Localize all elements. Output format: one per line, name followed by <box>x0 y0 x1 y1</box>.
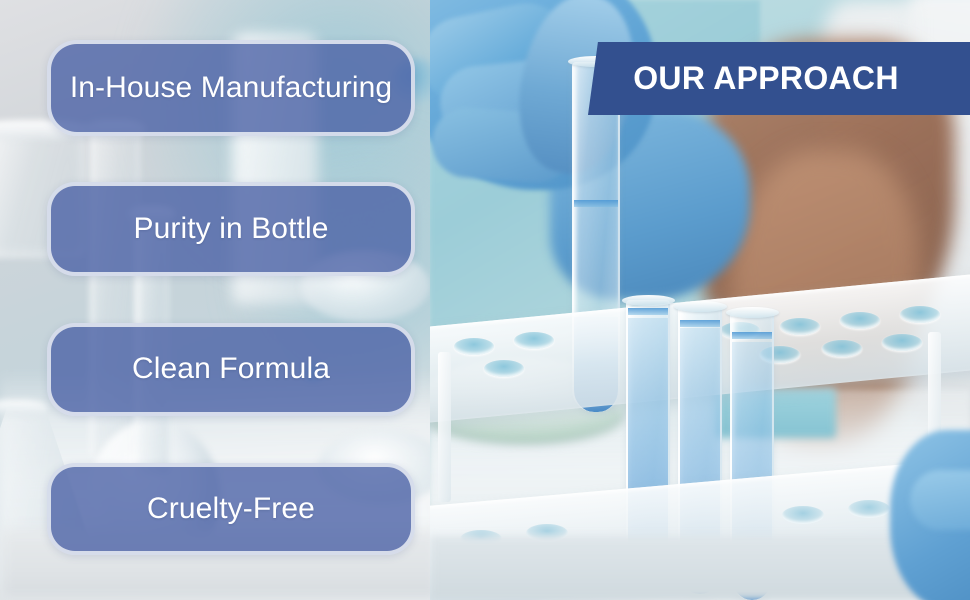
test-tube-liquid-surface <box>628 308 668 315</box>
bench-front-edge <box>430 536 970 600</box>
test-tube-rack-3-rim <box>726 307 779 318</box>
rack-hole <box>900 306 940 323</box>
feature-pill-clean-formula[interactable]: Clean Formula <box>47 323 415 416</box>
test-tube-rack-1-rim <box>622 295 675 306</box>
feature-pill-in-house-manufacturing[interactable]: In-House Manufacturing <box>47 40 415 136</box>
test-tube-liquid-surface <box>574 200 618 207</box>
rack-hole <box>822 340 862 357</box>
rack-hole <box>484 360 524 377</box>
rack-hole <box>780 318 820 335</box>
rack-bottom-hole <box>848 500 890 518</box>
rack-hole <box>882 334 922 351</box>
test-tube-rack-2-rim <box>674 301 727 312</box>
erlenmeyer-flask-rim <box>0 400 48 416</box>
rack-hole <box>514 332 554 349</box>
rack-leg-left <box>438 352 451 502</box>
feature-pill-cruelty-free[interactable]: Cruelty-Free <box>47 463 415 555</box>
our-approach-banner: OUR APPROACH <box>588 42 970 115</box>
rack-hole <box>840 312 880 329</box>
gloved-hand-secondary-fingers <box>910 470 970 530</box>
feature-pill-purity-in-bottle[interactable]: Purity in Bottle <box>47 182 415 276</box>
test-tube-liquid-surface <box>732 332 772 339</box>
banner-title: OUR APPROACH <box>625 60 933 97</box>
rack-bottom-hole <box>782 506 824 524</box>
rack-hole <box>454 338 494 355</box>
poster-canvas: In-House Manufacturing Purity in Bottle … <box>0 0 970 600</box>
test-tube-liquid-surface <box>680 320 720 327</box>
